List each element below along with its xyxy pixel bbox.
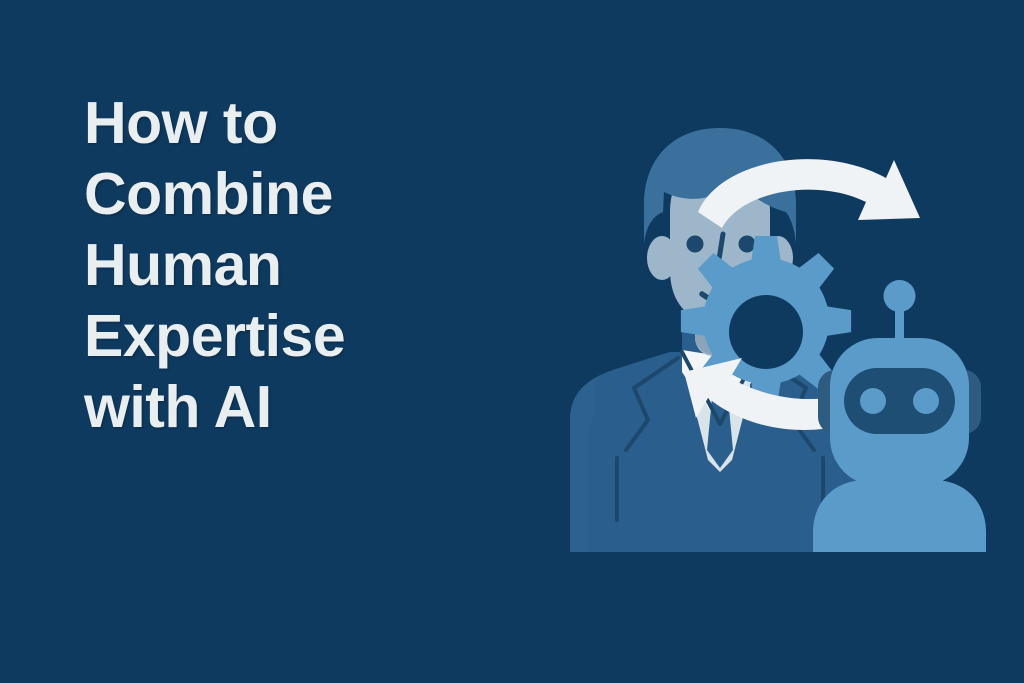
robot-body <box>813 480 986 552</box>
title-line-5: with AI <box>84 372 484 443</box>
illustration-svg <box>420 120 1020 570</box>
title-line-2: Combine <box>84 159 484 230</box>
eye-left <box>687 236 704 253</box>
poster-canvas: How to Combine Human Expertise with AI <box>0 0 1024 683</box>
human-ai-illustration <box>420 120 1020 570</box>
gear-hole <box>729 295 803 369</box>
robot-eye-left <box>860 388 886 414</box>
robot-antenna-bulb <box>884 280 916 312</box>
title-line-1: How to <box>84 88 484 159</box>
page-title: How to Combine Human Expertise with AI <box>84 88 484 443</box>
robot-eye-right <box>913 388 939 414</box>
title-line-3: Human <box>84 230 484 301</box>
title-line-4: Expertise <box>84 301 484 372</box>
